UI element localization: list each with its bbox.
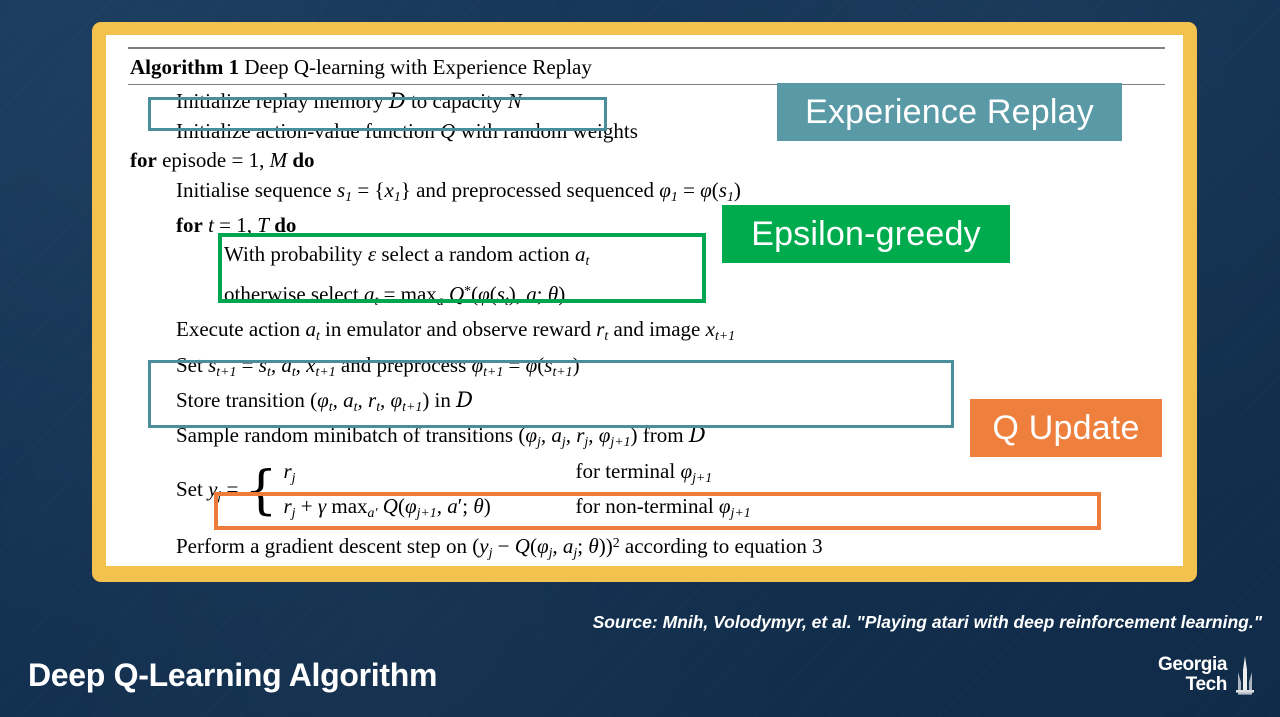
algorithm-line-for-episode: for episode = 1, M do xyxy=(128,146,1165,176)
cases-brace: { xyxy=(244,472,277,510)
algorithm-line-epsilon-greedy: otherwise select at = maxa Q*(φ(st), a; … xyxy=(128,276,1165,316)
georgia-tech-logo: Georgia Tech xyxy=(1158,655,1258,698)
algorithm-heading-text: Deep Q-learning with Experience Replay xyxy=(244,55,592,79)
algorithm-line-execute: Execute action at in emulator and observ… xyxy=(128,315,1165,350)
case-terminal: rj for terminal φj+1 xyxy=(283,457,750,492)
algorithm-heading-label: Algorithm 1 xyxy=(130,55,239,79)
georgia-tech-tower-icon xyxy=(1232,656,1258,698)
case-non-terminal-label: for non-terminal φj+1 xyxy=(575,492,750,527)
callout-epsilon-greedy: Epsilon-greedy xyxy=(722,205,1010,263)
callout-epsilon-greedy-label: Epsilon-greedy xyxy=(751,217,981,251)
case-terminal-label: for terminal φj+1 xyxy=(575,457,712,492)
source-citation: Source: Mnih, Volodymyr, et al. "Playing… xyxy=(593,612,1262,633)
page-title: Deep Q-Learning Algorithm xyxy=(28,657,437,694)
logo-line-georgia: Georgia xyxy=(1158,655,1227,675)
callout-experience-replay: Experience Replay xyxy=(777,83,1122,141)
case-non-terminal: rj + γ maxa′ Q(φj+1, a′; θ) for non-term… xyxy=(283,492,750,527)
algorithm-lines: Initialize replay memory D to capacity N… xyxy=(128,85,1165,566)
logo-line-tech: Tech xyxy=(1158,675,1227,695)
algorithm-line-gradient-descent: Perform a gradient descent step on (yj −… xyxy=(128,528,1165,566)
logo-wordmark: Georgia Tech xyxy=(1158,655,1227,694)
callout-experience-replay-label: Experience Replay xyxy=(805,95,1094,129)
algorithm-line-set-state: Set st+1 = st, at, xt+1 and preprocess φ… xyxy=(128,351,1165,386)
callout-q-update-label: Q Update xyxy=(992,411,1139,445)
callout-q-update: Q Update xyxy=(970,399,1162,457)
algorithm-heading: Algorithm 1 Deep Q-learning with Experie… xyxy=(128,49,1165,84)
algorithm-line-set-target: Set yj = { rj for terminal φj+1 rj + γ m… xyxy=(128,457,1165,528)
